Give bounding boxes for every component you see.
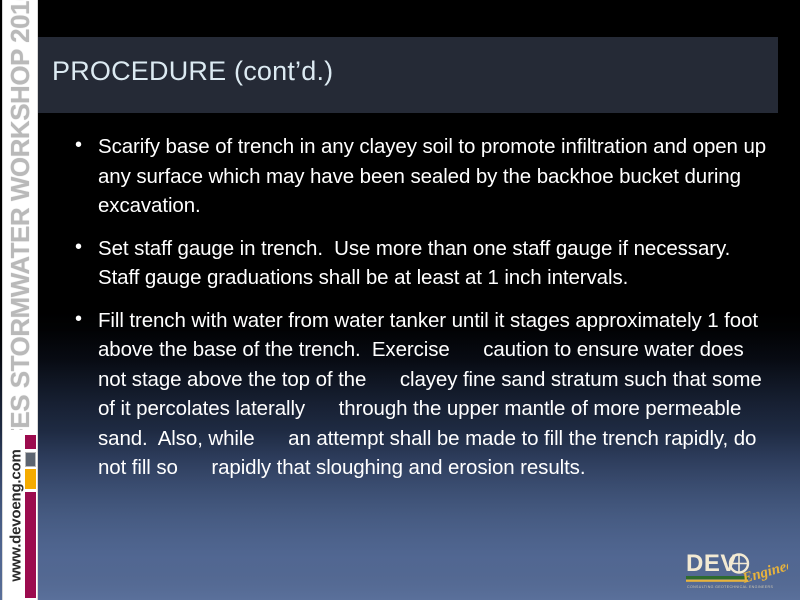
presentation-slide: FES STORMWATER WORKSHOP 2010 www.devoeng… [0,0,800,600]
bullet-item: Set staff gauge in trench. Use more than… [68,234,768,293]
sidebar-chip-magenta [25,435,36,449]
logo-tagline-text: CONSULTING GEOTECHNICAL ENGINEERS [687,585,773,589]
bullet-item: Scarify base of trench in any clayey soi… [68,132,768,221]
sidebar-chip-amber [25,469,36,489]
slide-title: PROCEDURE (cont’d.) [52,56,333,87]
sidebar-website-label[interactable]: www.devoeng.com [8,449,25,581]
devo-engineering-logo: DEV Engineering CONSULTING GEOTECHNICAL … [684,545,788,593]
sidebar-workshop-banner: FES STORMWATER WORKSHOP 2010 [3,0,37,430]
sidebar-chip-magenta-long [25,492,36,598]
sidebar-workshop-label: FES STORMWATER WORKSHOP 2010 [5,0,36,430]
slide-body: Scarify base of trench in any clayey soi… [68,132,768,496]
bullet-item: Fill trench with water from water tanker… [68,306,768,483]
sidebar-chip-gray [25,452,36,467]
bullet-list: Scarify base of trench in any clayey soi… [68,132,768,483]
